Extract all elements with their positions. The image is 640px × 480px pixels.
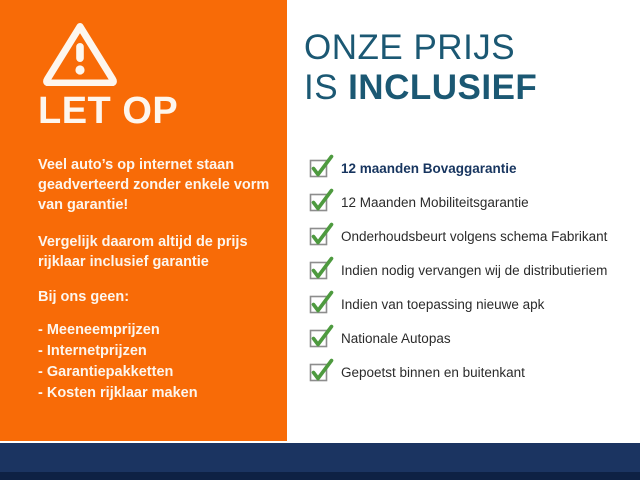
inclusions-panel: ONZE PRIJS ISINCLUSIEF 12 maanden Bovagg… — [287, 0, 640, 441]
list-item: 12 maanden Bovaggarantie — [295, 152, 640, 186]
heading-line-1: ONZE PRIJS — [304, 28, 537, 68]
checkbox-checked-icon — [308, 188, 336, 214]
list-item: - Kosten rijklaar maken — [38, 383, 278, 404]
warning-triangle-icon — [43, 22, 117, 86]
list-item: Indien nodig vervangen wij de distributi… — [295, 254, 640, 288]
exclusions-list: - Meeneemprijzen - Internetprijzen - Gar… — [38, 320, 278, 404]
page-title: LET OP — [38, 92, 178, 130]
checkbox-checked-icon — [308, 154, 336, 180]
warning-panel: LET OP Veel auto’s op internet staan gea… — [0, 0, 287, 441]
inclusions-heading: ONZE PRIJS ISINCLUSIEF — [304, 28, 537, 108]
list-item: 12 Maanden Mobiliteitsgarantie — [295, 186, 640, 220]
heading-word-inclusief: INCLUSIEF — [348, 68, 537, 107]
warning-paragraph-1: Veel auto’s op internet staan geadvertee… — [38, 155, 278, 215]
list-item-label: 12 Maanden Mobiliteitsgarantie — [341, 195, 529, 211]
heading-word-is: IS — [304, 68, 338, 107]
heading-line-2: ISINCLUSIEF — [304, 68, 537, 108]
list-item-label: Indien nodig vervangen wij de distributi… — [341, 263, 607, 279]
list-item: Nationale Autopas — [295, 322, 640, 356]
warning-paragraph-3: Bij ons geen: — [38, 287, 278, 307]
warning-paragraph-2: Vergelijk daarom altijd de prijs rijklaa… — [38, 232, 278, 272]
list-item: - Internetprijzen — [38, 341, 278, 362]
checkbox-checked-icon — [308, 256, 336, 282]
list-item: - Meeneemprijzen — [38, 320, 278, 341]
bottom-accent-bar — [0, 443, 640, 472]
list-item-label: 12 maanden Bovaggarantie — [341, 161, 517, 177]
list-item-label: Nationale Autopas — [341, 331, 451, 347]
checkbox-checked-icon — [308, 324, 336, 350]
list-item: - Garantiepakketten — [38, 362, 278, 383]
list-item-label: Gepoetst binnen en buitenkant — [341, 365, 525, 381]
checkbox-checked-icon — [308, 290, 336, 316]
list-item: Indien van toepassing nieuwe apk — [295, 288, 640, 322]
list-item: Gepoetst binnen en buitenkant — [295, 356, 640, 390]
checkbox-checked-icon — [308, 358, 336, 384]
list-item-label: Onderhoudsbeurt volgens schema Fabrikant — [341, 229, 607, 245]
list-item-label: Indien van toepassing nieuwe apk — [341, 297, 544, 313]
checkbox-checked-icon — [308, 222, 336, 248]
bottom-accent-bar-dark — [0, 472, 640, 480]
list-item: Onderhoudsbeurt volgens schema Fabrikant — [295, 220, 640, 254]
inclusions-list: 12 maanden Bovaggarantie 12 Maanden Mobi… — [295, 152, 640, 390]
promo-banner: LET OP Veel auto’s op internet staan gea… — [0, 0, 640, 480]
